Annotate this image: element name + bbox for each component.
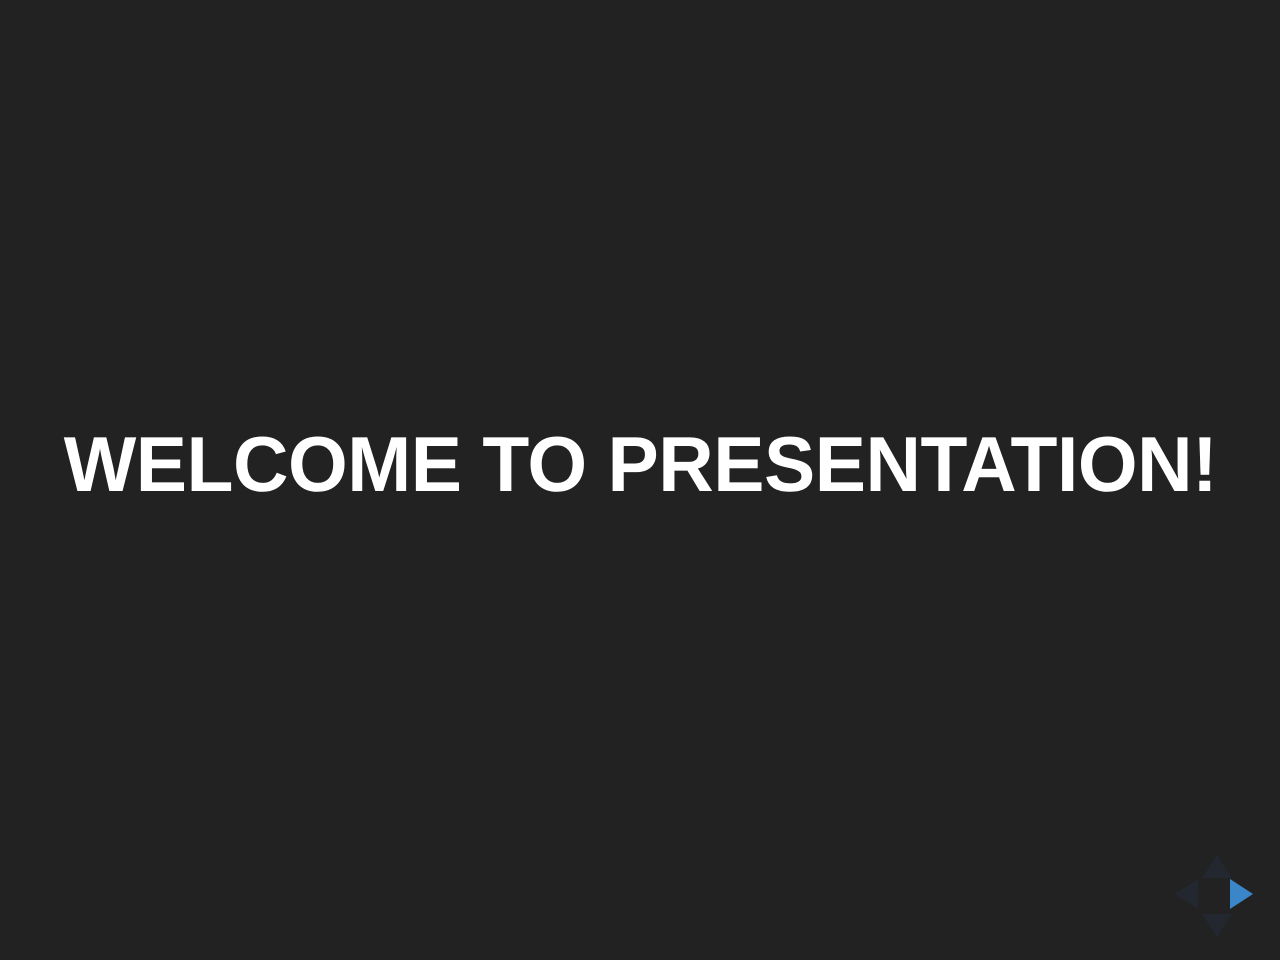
nav-right-arrow-icon[interactable] bbox=[1230, 879, 1253, 909]
nav-up-arrow-icon[interactable] bbox=[1202, 855, 1232, 878]
slide-navigation-controls bbox=[1175, 852, 1261, 940]
presentation-deck: WELCOME TO PRESENTATION! bbox=[0, 0, 1280, 960]
slide-title: WELCOME TO PRESENTATION! bbox=[24, 422, 1256, 506]
nav-left-arrow-icon[interactable] bbox=[1175, 879, 1198, 909]
slide-surface: WELCOME TO PRESENTATION! bbox=[0, 0, 1280, 960]
nav-down-arrow-icon[interactable] bbox=[1202, 914, 1232, 937]
